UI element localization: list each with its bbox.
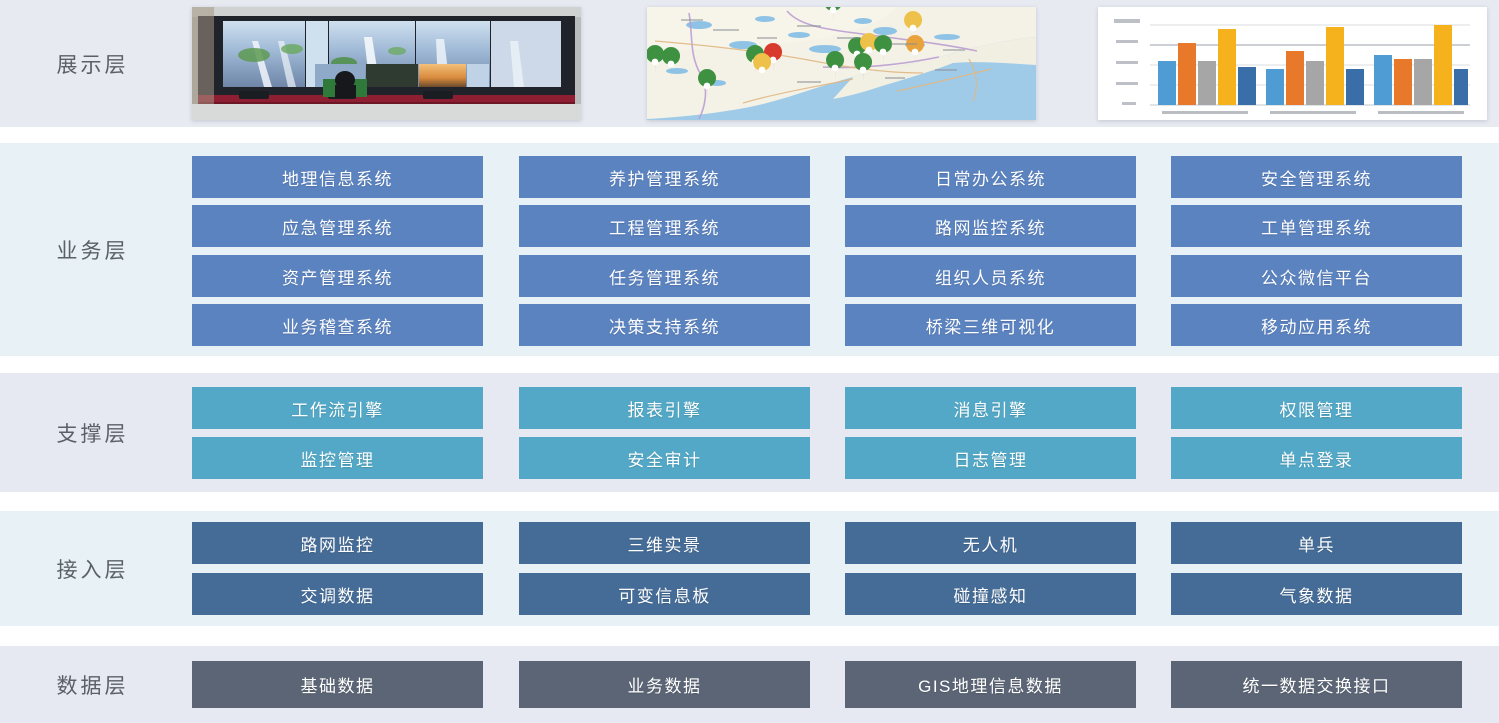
tile-access-c3-r2[interactable]: 碰撞感知 xyxy=(845,573,1136,615)
gis-map-image xyxy=(647,7,1036,120)
tile-access-c1-r2[interactable]: 交调数据 xyxy=(192,573,483,615)
tile-business-c1-r2[interactable]: 应急管理系统 xyxy=(192,205,483,247)
layer-label-access: 接入层 xyxy=(0,511,185,626)
tile-access-c1-r1[interactable]: 路网监控 xyxy=(192,522,483,564)
tile-business-c4-r3[interactable]: 公众微信平台 xyxy=(1171,255,1462,297)
tile-business-c3-r2[interactable]: 路网监控系统 xyxy=(845,205,1136,247)
bar-chart-image xyxy=(1098,7,1487,120)
video-wall-photo xyxy=(192,7,581,120)
layer-content-business: 地理信息系统 应急管理系统 资产管理系统 业务稽查系统 养护管理系统 工程管理系… xyxy=(185,143,1499,356)
tile-access-c3-r1[interactable]: 无人机 xyxy=(845,522,1136,564)
tile-business-c4-r2[interactable]: 工单管理系统 xyxy=(1171,205,1462,247)
support-tile-grid: 工作流引擎 监控管理 报表引擎 安全审计 消息引擎 日志管理 权限管理 单点登录 xyxy=(185,373,1499,492)
layer-label-support: 支撑层 xyxy=(0,373,185,492)
layer-label-presentation: 展示层 xyxy=(0,0,185,127)
tile-business-c1-r4[interactable]: 业务稽查系统 xyxy=(192,304,483,346)
tile-business-c3-r1[interactable]: 日常办公系统 xyxy=(845,156,1136,198)
tile-business-c3-r4[interactable]: 桥梁三维可视化 xyxy=(845,304,1136,346)
tile-business-c2-r4[interactable]: 决策支持系统 xyxy=(519,304,810,346)
layer-content-presentation xyxy=(185,0,1499,127)
presentation-media-row xyxy=(185,0,1499,127)
tile-business-c1-r3[interactable]: 资产管理系统 xyxy=(192,255,483,297)
tile-support-c3-r2[interactable]: 日志管理 xyxy=(845,437,1136,479)
tile-business-c2-r1[interactable]: 养护管理系统 xyxy=(519,156,810,198)
layer-band-access: 接入层 路网监控 交调数据 三维实景 可变信息板 无人机 碰撞感知 单兵 气象数… xyxy=(0,511,1499,626)
tile-data-c1[interactable]: 基础数据 xyxy=(192,661,483,708)
data-tile-grid: 基础数据 业务数据 GIS地理信息数据 统一数据交换接口 xyxy=(185,646,1499,723)
tile-access-c2-r1[interactable]: 三维实景 xyxy=(519,522,810,564)
layer-label-data: 数据层 xyxy=(0,646,185,723)
tile-support-c1-r2[interactable]: 监控管理 xyxy=(192,437,483,479)
layer-content-access: 路网监控 交调数据 三维实景 可变信息板 无人机 碰撞感知 单兵 气象数据 xyxy=(185,511,1499,626)
tile-data-c4[interactable]: 统一数据交换接口 xyxy=(1171,661,1462,708)
layer-content-support: 工作流引擎 监控管理 报表引擎 安全审计 消息引擎 日志管理 权限管理 单点登录 xyxy=(185,373,1499,492)
tile-data-c2[interactable]: 业务数据 xyxy=(519,661,810,708)
tile-support-c2-r1[interactable]: 报表引擎 xyxy=(519,387,810,429)
tile-access-c2-r2[interactable]: 可变信息板 xyxy=(519,573,810,615)
tile-support-c1-r1[interactable]: 工作流引擎 xyxy=(192,387,483,429)
tile-data-c3[interactable]: GIS地理信息数据 xyxy=(845,661,1136,708)
layer-label-business: 业务层 xyxy=(0,143,185,356)
layer-content-data: 基础数据 业务数据 GIS地理信息数据 统一数据交换接口 xyxy=(185,646,1499,723)
tile-support-c2-r2[interactable]: 安全审计 xyxy=(519,437,810,479)
layer-band-presentation: 展示层 xyxy=(0,0,1499,127)
tile-support-c4-r1[interactable]: 权限管理 xyxy=(1171,387,1462,429)
tile-business-c3-r3[interactable]: 组织人员系统 xyxy=(845,255,1136,297)
layer-band-business: 业务层 地理信息系统 应急管理系统 资产管理系统 业务稽查系统 养护管理系统 工… xyxy=(0,143,1499,356)
tile-business-c2-r3[interactable]: 任务管理系统 xyxy=(519,255,810,297)
layer-band-data: 数据层 基础数据 业务数据 GIS地理信息数据 统一数据交换接口 xyxy=(0,646,1499,723)
tile-business-c4-r4[interactable]: 移动应用系统 xyxy=(1171,304,1462,346)
tile-support-c4-r2[interactable]: 单点登录 xyxy=(1171,437,1462,479)
business-tile-grid: 地理信息系统 应急管理系统 资产管理系统 业务稽查系统 养护管理系统 工程管理系… xyxy=(185,143,1499,356)
tile-access-c4-r1[interactable]: 单兵 xyxy=(1171,522,1462,564)
layer-band-support: 支撑层 工作流引擎 监控管理 报表引擎 安全审计 消息引擎 日志管理 权限管理 … xyxy=(0,373,1499,492)
system-architecture-diagram: 展示层 xyxy=(0,0,1499,723)
tile-business-c2-r2[interactable]: 工程管理系统 xyxy=(519,205,810,247)
tile-access-c4-r2[interactable]: 气象数据 xyxy=(1171,573,1462,615)
tile-business-c1-r1[interactable]: 地理信息系统 xyxy=(192,156,483,198)
tile-support-c3-r1[interactable]: 消息引擎 xyxy=(845,387,1136,429)
access-tile-grid: 路网监控 交调数据 三维实景 可变信息板 无人机 碰撞感知 单兵 气象数据 xyxy=(185,511,1499,626)
tile-business-c4-r1[interactable]: 安全管理系统 xyxy=(1171,156,1462,198)
